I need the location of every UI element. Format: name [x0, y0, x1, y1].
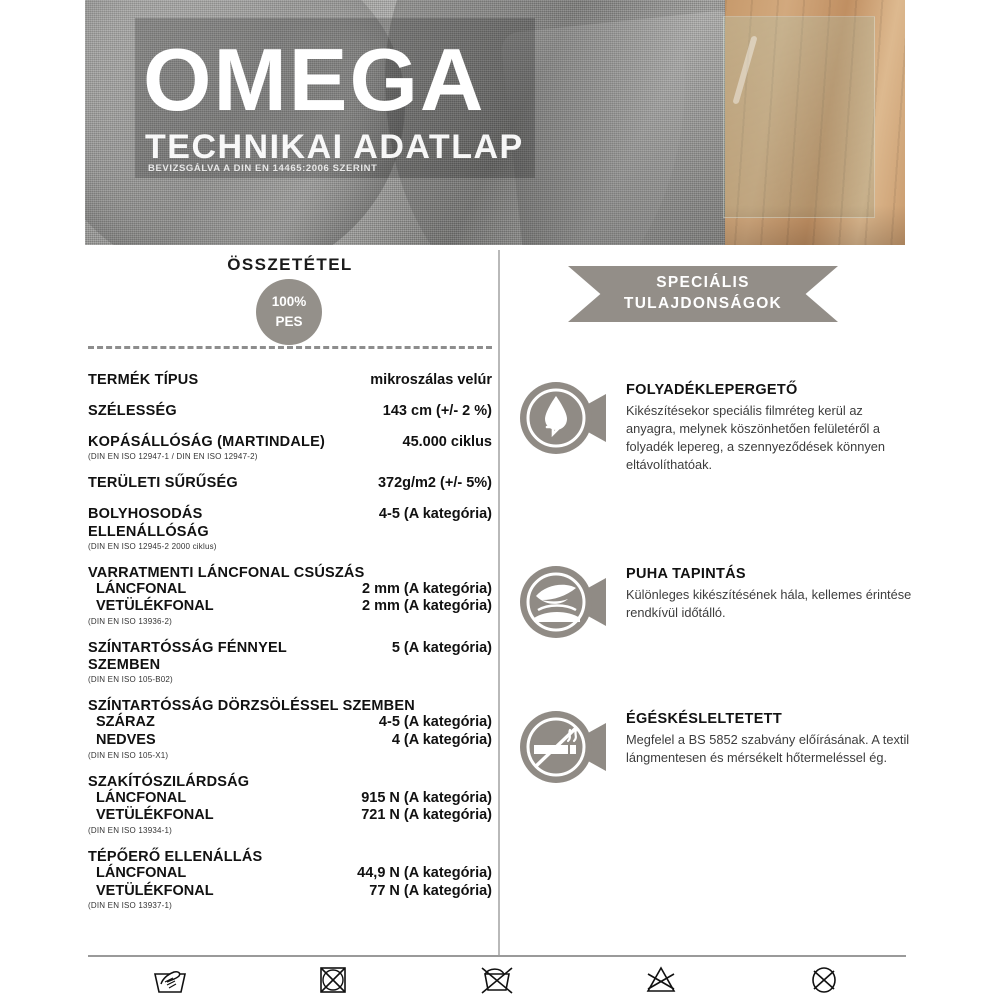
- spec-value: 5 (A kategória): [392, 640, 492, 656]
- specification-list: TERMÉK TÍPUSmikroszálas velúrSZÉLESSÉG14…: [88, 372, 492, 924]
- spec-label: BOLYHOSODÁSELLENÁLLÓSÁG: [88, 506, 209, 540]
- special-properties-ribbon: SPECIÁLIS TULAJDONSÁGOK: [568, 266, 838, 322]
- spec-heading: TÉPŐERŐ ELLENÁLLÁS: [88, 849, 492, 865]
- spec-row: TÉPŐERŐ ELLENÁLLÁSLÁNCFONAL44,9 N (A kat…: [88, 849, 492, 910]
- do-not-dry-clean-icon: [801, 962, 847, 996]
- hero-subtitle: TECHNIKAI ADATLAP: [145, 128, 524, 167]
- badge-material: PES: [275, 312, 302, 332]
- spec-row: SZÍNTARTÓSSÁG FÉNNYELSZEMBEN5 (A kategór…: [88, 640, 492, 684]
- spec-value: 143 cm (+/- 2 %): [383, 403, 492, 419]
- spec-subvalue: 721 N (A kategória): [361, 807, 492, 825]
- do-not-bleach-icon: [638, 962, 684, 996]
- spec-subvalue: 4 (A kategória): [392, 732, 492, 750]
- composition-badge: 100% PES: [256, 279, 322, 345]
- no-smoking-flame-retardant-icon: [516, 707, 608, 787]
- spec-value: mikroszálas velúr: [370, 372, 492, 388]
- spec-value: 4-5 (A kategória): [379, 506, 492, 522]
- composition-title: ÖSSZETÉTEL: [88, 255, 492, 275]
- spec-subrow: SZÁRAZ4-5 (A kategória): [88, 714, 492, 732]
- spec-label: SZÉLESSÉG: [88, 403, 177, 420]
- spec-label: SZÍNTARTÓSSÁG FÉNNYELSZEMBEN: [88, 640, 287, 674]
- spec-subvalue: 77 N (A kategória): [369, 883, 492, 901]
- spec-subrow: NEDVES4 (A kategória): [88, 732, 492, 750]
- spec-sublabel: SZÁRAZ: [96, 714, 155, 732]
- feather-soft-touch-icon: [516, 562, 608, 642]
- water-drop-icon: [516, 378, 608, 458]
- feature-text: Megfelel a BS 5852 szabvány előírásának.…: [626, 731, 916, 767]
- spec-main: BOLYHOSODÁSELLENÁLLÓSÁG4-5 (A kategória): [88, 506, 492, 540]
- spec-heading: VARRATMENTI LÁNCFONAL CSÚSZÁS: [88, 565, 492, 581]
- spec-subvalue: 4-5 (A kategória): [379, 714, 492, 732]
- feature-body: PUHA TAPINTÁS Különleges kikészítésének …: [626, 562, 916, 642]
- spec-standard: (DIN EN ISO 13936-2): [88, 617, 492, 626]
- spec-subvalue: 915 N (A kategória): [361, 790, 492, 808]
- spec-row: KOPÁSÁLLÓSÁG (MARTINDALE)45.000 ciklus(D…: [88, 434, 492, 461]
- feature-text: Különleges kikészítésének hála, kellemes…: [626, 586, 916, 622]
- feature-body: ÉGÉSKÉSLELTETETT Megfelel a BS 5852 szab…: [626, 707, 916, 787]
- spec-sublabel: VETÜLÉKFONAL: [96, 883, 214, 901]
- spec-standard: (DIN EN ISO 105-X1): [88, 751, 492, 760]
- spec-subrow: LÁNCFONAL44,9 N (A kategória): [88, 865, 492, 883]
- spec-value: 45.000 ciklus: [403, 434, 493, 450]
- spec-sublabel: LÁNCFONAL: [96, 790, 186, 808]
- feature-text: Kikészítésekor speciális filmréteg kerül…: [626, 402, 916, 475]
- spec-sublabel: NEDVES: [96, 732, 156, 750]
- spec-sublabel: VETÜLÉKFONAL: [96, 807, 214, 825]
- ribbon-line-1: SPECIÁLIS: [656, 273, 750, 294]
- spec-label: TERÜLETI SŰRŰSÉG: [88, 475, 238, 492]
- care-symbols-row: [88, 962, 906, 996]
- spec-main: KOPÁSÁLLÓSÁG (MARTINDALE)45.000 ciklus: [88, 434, 492, 451]
- spec-sublabel: LÁNCFONAL: [96, 865, 186, 883]
- product-title: OMEGA: [143, 38, 485, 122]
- do-not-machine-wash-icon: [474, 962, 520, 996]
- glass-reflection: [732, 36, 757, 105]
- spec-row: SZÍNTARTÓSSÁG DÖRZSÖLÉSSEL SZEMBENSZÁRAZ…: [88, 698, 492, 759]
- feature-block: PUHA TAPINTÁS Különleges kikészítésének …: [516, 562, 916, 642]
- spec-sublabel: VETÜLÉKFONAL: [96, 598, 214, 616]
- spec-subvalue: 2 mm (A kategória): [362, 598, 492, 616]
- spec-subrow: VETÜLÉKFONAL721 N (A kategória): [88, 807, 492, 825]
- feature-title: FOLYADÉKLEPERGETŐ: [626, 382, 916, 398]
- glass-panel: [723, 16, 875, 218]
- spec-row: SZÉLESSÉG143 cm (+/- 2 %): [88, 403, 492, 420]
- spec-row: TERMÉK TÍPUSmikroszálas velúr: [88, 372, 492, 389]
- hero-standard-note: BEVIZSGÁLVA A DIN EN 14465:2006 SZERINT: [148, 163, 377, 174]
- spec-subrow: VETÜLÉKFONAL77 N (A kategória): [88, 883, 492, 901]
- spec-standard: (DIN EN ISO 105-B02): [88, 675, 492, 684]
- spec-heading: SZAKÍTÓSZILÁRDSÁG: [88, 774, 492, 790]
- feature-block: FOLYADÉKLEPERGETŐ Kikészítésekor speciál…: [516, 378, 916, 475]
- spec-row: TERÜLETI SŰRŰSÉG372g/m2 (+/- 5%): [88, 475, 492, 492]
- spec-sublabel: LÁNCFONAL: [96, 581, 186, 599]
- feature-block: ÉGÉSKÉSLELTETETT Megfelel a BS 5852 szab…: [516, 707, 916, 787]
- feature-title: ÉGÉSKÉSLELTETETT: [626, 711, 916, 727]
- spec-subvalue: 44,9 N (A kategória): [357, 865, 492, 883]
- feature-body: FOLYADÉKLEPERGETŐ Kikészítésekor speciál…: [626, 378, 916, 475]
- spec-subrow: LÁNCFONAL915 N (A kategória): [88, 790, 492, 808]
- spec-standard: (DIN EN ISO 13937-1): [88, 901, 492, 910]
- ribbon-line-2: TULAJDONSÁGOK: [624, 294, 782, 315]
- spec-main: SZÍNTARTÓSSÁG FÉNNYELSZEMBEN5 (A kategór…: [88, 640, 492, 674]
- spec-row: VARRATMENTI LÁNCFONAL CSÚSZÁSLÁNCFONAL2 …: [88, 565, 492, 626]
- spec-heading: SZÍNTARTÓSSÁG DÖRZSÖLÉSSEL SZEMBEN: [88, 698, 492, 714]
- spec-label: TERMÉK TÍPUS: [88, 372, 198, 389]
- spec-standard: (DIN EN ISO 12945-2 2000 ciklus): [88, 542, 492, 551]
- spec-label: KOPÁSÁLLÓSÁG (MARTINDALE): [88, 434, 325, 451]
- do-not-tumble-dry-icon: [310, 962, 356, 996]
- spec-subrow: VETÜLÉKFONAL2 mm (A kategória): [88, 598, 492, 616]
- spec-standard: (DIN EN ISO 12947-1 / DIN EN ISO 12947-2…: [88, 452, 492, 461]
- wood-floor: [725, 0, 905, 245]
- spec-main: SZÉLESSÉG143 cm (+/- 2 %): [88, 403, 492, 420]
- spec-main: TERMÉK TÍPUSmikroszálas velúr: [88, 372, 492, 389]
- spec-subrow: LÁNCFONAL2 mm (A kategória): [88, 581, 492, 599]
- datasheet-page: OMEGA TECHNIKAI ADATLAP BEVIZSGÁLVA A DI…: [0, 0, 1000, 1000]
- composition-dashed-divider: [88, 346, 492, 349]
- spec-standard: (DIN EN ISO 13934-1): [88, 826, 492, 835]
- badge-percent: 100%: [272, 292, 307, 312]
- spec-row: BOLYHOSODÁSELLENÁLLÓSÁG4-5 (A kategória)…: [88, 506, 492, 550]
- spec-value: 372g/m2 (+/- 5%): [378, 475, 492, 491]
- hand-wash-icon: [147, 962, 193, 996]
- footer-divider: [88, 955, 906, 957]
- feature-title: PUHA TAPINTÁS: [626, 566, 916, 582]
- spec-main: TERÜLETI SŰRŰSÉG372g/m2 (+/- 5%): [88, 475, 492, 492]
- column-divider: [498, 250, 500, 956]
- spec-row: SZAKÍTÓSZILÁRDSÁGLÁNCFONAL915 N (A kateg…: [88, 774, 492, 835]
- spec-subvalue: 2 mm (A kategória): [362, 581, 492, 599]
- hero-banner: OMEGA TECHNIKAI ADATLAP BEVIZSGÁLVA A DI…: [85, 0, 905, 245]
